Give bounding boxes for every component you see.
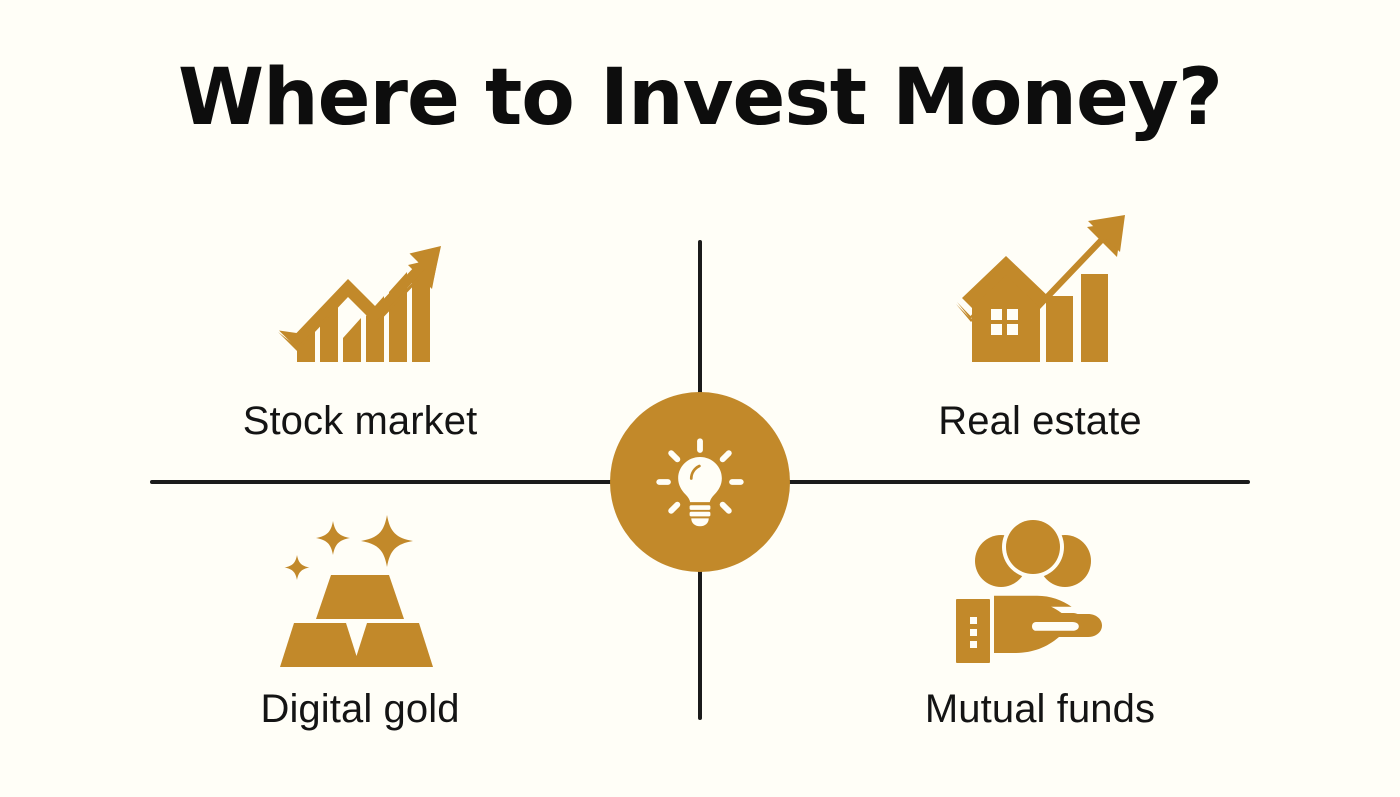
hand-holding-coins-icon [953,498,1128,673]
quadrant-label-stock-market: Stock market [243,399,478,444]
quadrant-mutual-funds[interactable]: Mutual funds [830,498,1250,732]
page-title: Where to Invest Money? [0,58,1400,140]
growth-bar-chart-arrow-icon [275,212,445,387]
lightbulb-icon [648,430,752,534]
quadrant-digital-gold[interactable]: Digital gold [150,498,570,732]
quadrant-label-mutual-funds: Mutual funds [925,687,1155,732]
quadrant-label-digital-gold: Digital gold [260,687,459,732]
quadrant-label-real-estate: Real estate [938,399,1141,444]
quadrant-stock-market[interactable]: Stock market [150,212,570,444]
center-hub [610,392,790,572]
house-growth-chart-icon [950,212,1130,387]
quadrant-real-estate[interactable]: Real estate [830,212,1250,444]
gold-bars-sparkle-icon [275,498,445,673]
infographic-canvas: Where to Invest Money? [0,0,1400,797]
